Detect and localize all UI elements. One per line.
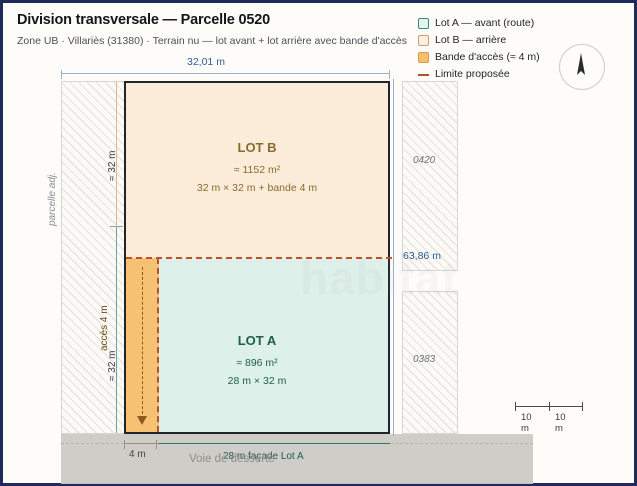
page-subtitle: Zone UB · Villariès (31380) · Terrain nu…: [17, 35, 407, 47]
lot-a-depth-label: ≈ 32 m: [107, 351, 118, 382]
right-dimension-line: [393, 79, 394, 436]
depth-rule-tick: [110, 226, 123, 227]
scale-label-first: 10 m: [521, 412, 532, 434]
road-label: Voie de desserte: [189, 453, 275, 465]
top-dimension-label: 32,01 m: [187, 56, 225, 68]
page-title: Division transversale — Parcelle 0520: [17, 12, 270, 28]
lot-b-depth-label: ≈ 32 m: [107, 151, 118, 182]
parcel-plot: habitat LOT B ≈ 1152 m² 32 m × 32 m + ba…: [124, 81, 390, 434]
scale-tick-end: [582, 402, 583, 411]
plan-page: Division transversale — Parcelle 0520 Zo…: [0, 0, 637, 486]
lot-b-title: LOT B: [126, 140, 388, 155]
north-arrow-icon: [559, 44, 605, 90]
neighbour-parcel-0420: [402, 81, 458, 271]
facade-dimension-line: [158, 443, 390, 444]
legend-item-lot-a: Lot A — avant (route): [418, 15, 540, 31]
lot-b-swatch: [418, 35, 429, 46]
right-dimension-label: 63,86 m: [403, 250, 441, 262]
scale-tick-mid: [549, 402, 550, 411]
access-depth-label: accès 4 m: [99, 305, 110, 351]
road-edge-line-bottom: [61, 483, 533, 484]
lot-a-area-value: ≈ 896 m²: [126, 357, 388, 369]
lot-b-dimensions: 32 m × 32 m + bande 4 m: [126, 182, 388, 194]
legend-label-lot-a: Lot A — avant (route): [435, 17, 534, 29]
lot-a-depth-rule: [116, 227, 117, 433]
plan-canvas: 0420 0383 parcelle adj. habitat LOT B ≈ …: [3, 51, 634, 486]
neighbour-parcel-label: parcelle adj.: [47, 172, 58, 226]
scale-label-second: 10 m: [555, 412, 566, 434]
parcel-number-0420: 0420: [413, 155, 435, 166]
lot-a-dimensions: 28 m × 32 m: [126, 375, 388, 387]
legend-label-lot-b: Lot B — arrière: [435, 34, 506, 46]
lot-a-title: LOT A: [126, 333, 388, 348]
band-width-dimension-line: [124, 443, 157, 444]
parcel-number-0383: 0383: [413, 354, 435, 365]
lot-b-area-value: ≈ 1152 m²: [126, 164, 388, 176]
access-arrow-head-icon: [137, 416, 147, 425]
band-width-label: 4 m: [129, 449, 146, 460]
top-dimension-line: [61, 73, 390, 74]
legend-item-lot-b: Lot B — arrière: [418, 32, 540, 48]
lot-a-swatch: [418, 18, 429, 29]
proposed-limit-line: [126, 257, 392, 259]
scale-tick-start: [515, 402, 516, 411]
